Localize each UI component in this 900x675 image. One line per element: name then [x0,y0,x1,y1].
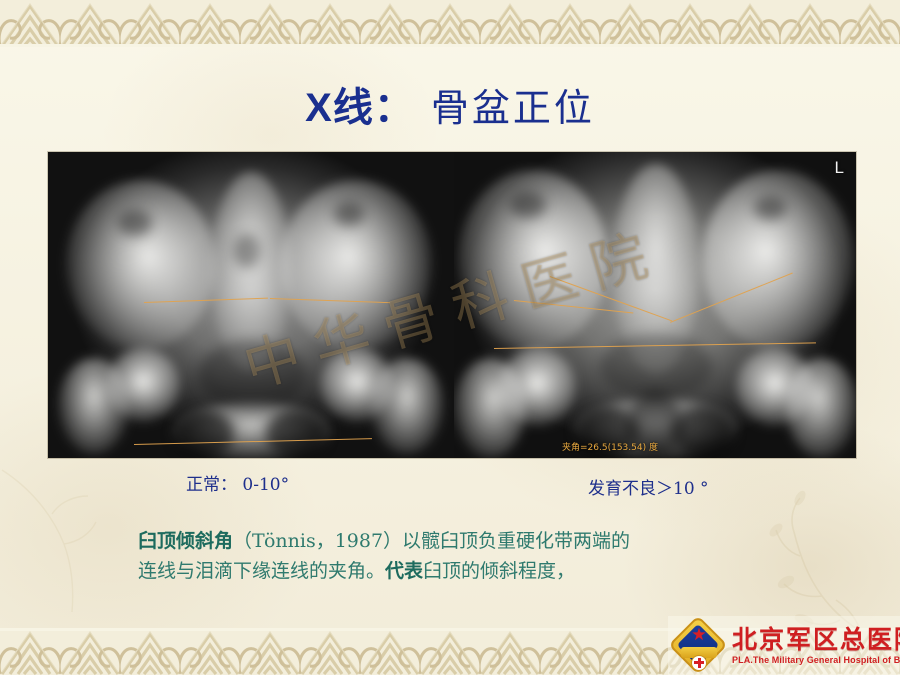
caption-normal-range: 正常： 0-10° [186,470,289,495]
definition-line2-a: 连线与泪滴下缘连线的夹角。 [138,560,385,582]
hospital-logo: 北京军区总医院 PLA.The Military General Hospita… [668,616,900,675]
definition-line2-b: 臼顶的倾斜程度， [423,560,575,582]
decorative-border-top [0,0,900,47]
slide-canvas: X线：骨盆正位 [0,0,900,675]
term-acetabular-roof-angle: 臼顶倾斜角 [138,530,233,552]
definition-line2-emphasis: 代表 [385,560,423,582]
xray-right-dysplastic: L 夹角=26.5(153.54) 度 [454,152,856,458]
military-medical-emblem-icon [672,620,726,672]
hospital-name-cn: 北京军区总医院 [732,627,900,652]
hospital-name-en: PLA.The Military General Hospital of Bei… [732,656,900,665]
xray-side-marker-L: L [835,158,844,178]
title-main: 骨盆正位 [431,86,595,130]
definition-paragraph: 臼顶倾斜角（Tönnis，1987）以髋臼顶负重硬化带两端的 连线与泪滴下缘连线… [138,526,798,586]
slide-title: X线：骨盆正位 [0,88,900,128]
caption-dysplasia-range: 发育不良＞10 ° [588,474,709,499]
xray-left-normal: 夹角=7.5(172.52) 度 [48,152,454,458]
title-prefix: X线： [305,86,415,130]
hospital-logo-text: 北京军区总医院 PLA.The Military General Hospita… [732,627,900,665]
definition-line1-rest: （Tönnis，1987）以髋臼顶负重硬化带两端的 [233,530,630,552]
xray-image-strip: 夹角=7.5(172.52) 度 L [48,152,856,458]
